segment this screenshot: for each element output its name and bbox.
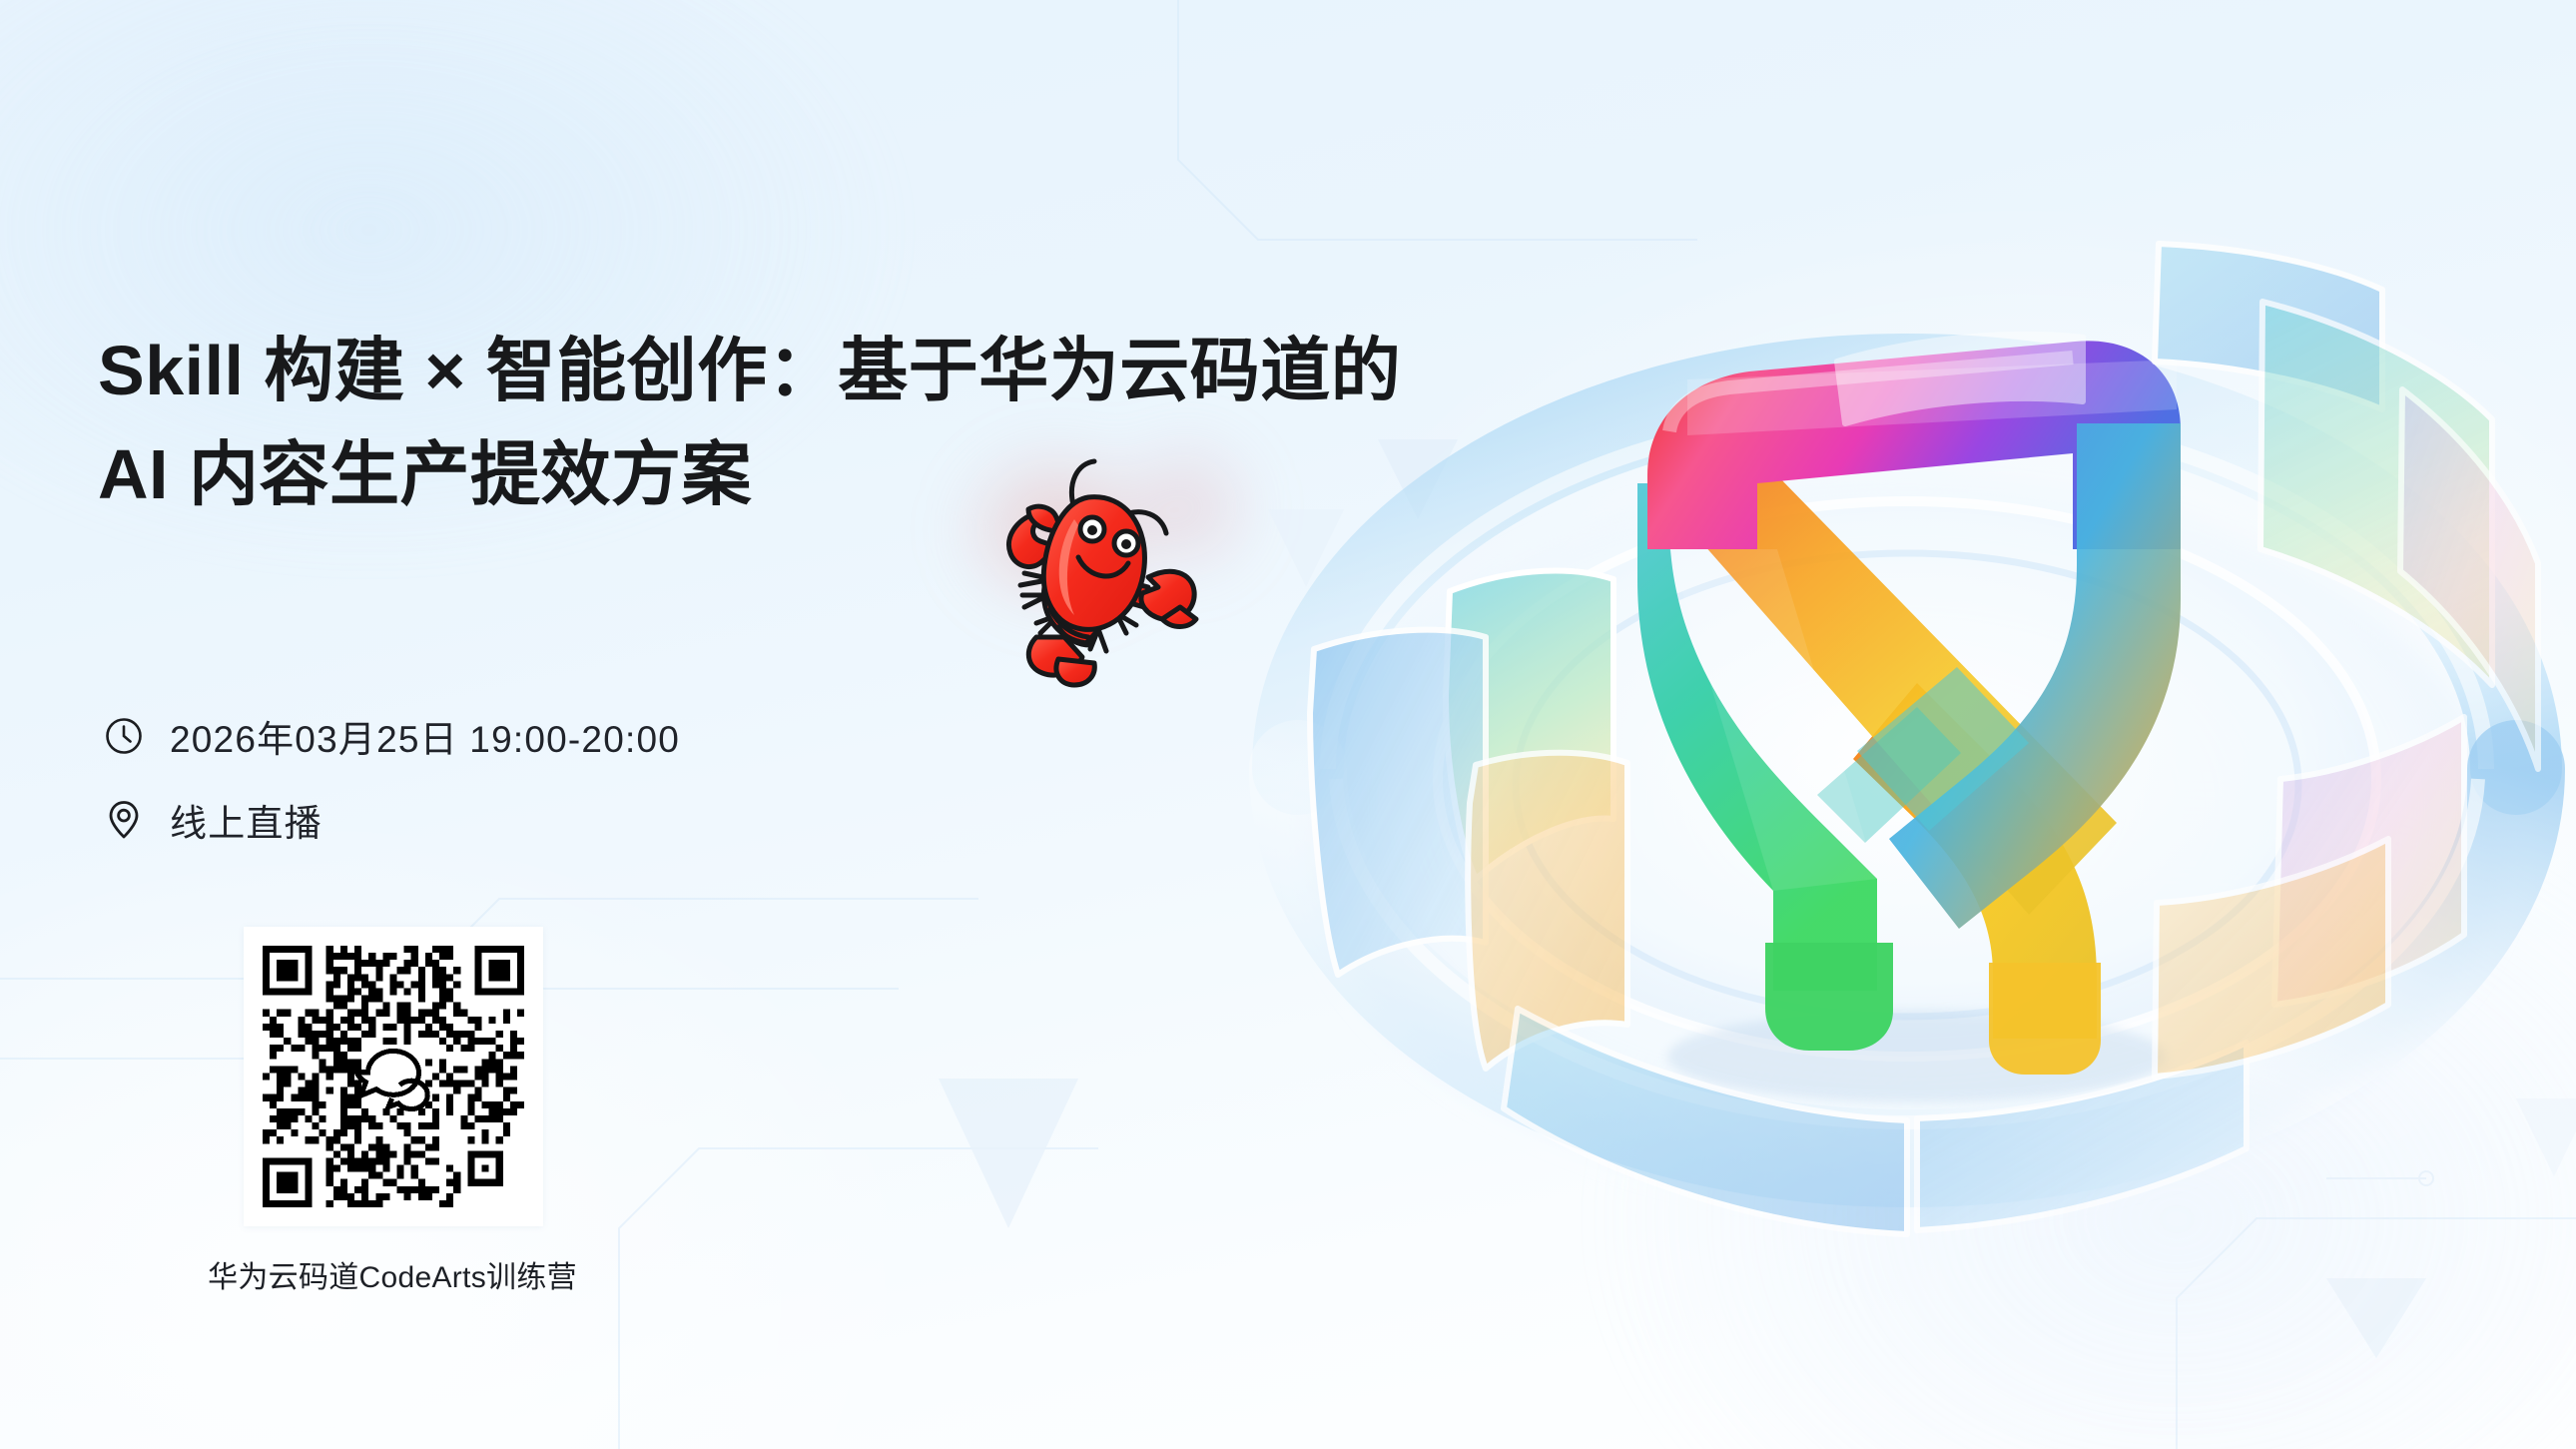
event-meta: 2026年03月25日 19:00-20:00 线上直播	[102, 705, 680, 873]
location-pin-icon	[102, 798, 146, 842]
qr-matrix	[263, 946, 524, 1207]
qr-block: 华为云码道CodeArts训练营	[244, 927, 587, 1296]
event-datetime: 2026年03月25日 19:00-20:00	[170, 709, 680, 763]
poster-canvas: Skill 构建 × 智能创作：基于华为云码道的 AI 内容生产提效方案 202…	[0, 0, 2576, 1449]
qr-code[interactable]	[244, 927, 543, 1226]
clock-icon	[102, 714, 146, 758]
event-location: 线上直播	[170, 793, 322, 847]
lobster-mascot	[966, 437, 1226, 697]
event-datetime-row: 2026年03月25日 19:00-20:00	[102, 705, 680, 767]
event-location-row: 线上直播	[102, 789, 680, 851]
background-glow-right	[1578, 770, 2576, 1449]
qr-caption: 华为云码道CodeArts训练营	[198, 1252, 587, 1296]
title-line-1: Skill 构建 × 智能创作：基于华为云码道的	[98, 319, 1276, 422]
codearts-3d-ribbon	[1218, 80, 2576, 1398]
content-column: Skill 构建 × 智能创作：基于华为云码道的 AI 内容生产提效方案 202…	[98, 0, 1276, 1449]
